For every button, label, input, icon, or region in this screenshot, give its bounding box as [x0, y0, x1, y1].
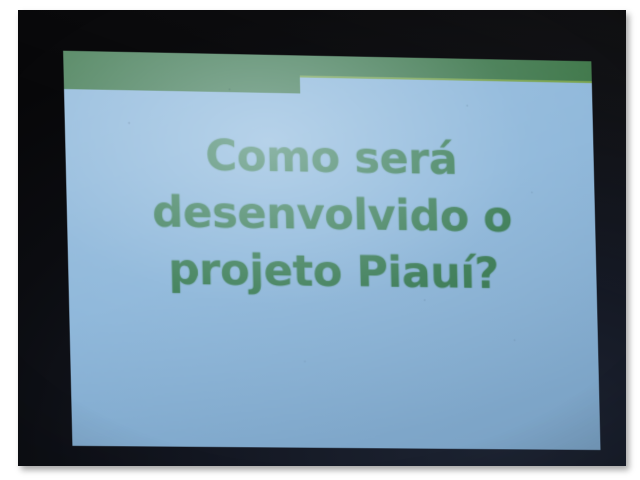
slide-title-line-2: desenvolvido o	[66, 183, 596, 248]
photograph-frame: Como será desenvolvido o projeto Piauí?	[0, 0, 640, 480]
slide-title: Como será desenvolvido o projeto Piauí?	[65, 125, 597, 303]
presentation-slide: Como será desenvolvido o projeto Piauí?	[63, 51, 600, 450]
photograph: Como será desenvolvido o projeto Piauí?	[18, 10, 626, 466]
slide-title-line-1: Como será	[65, 125, 595, 191]
slide-accent-band-dark-step	[63, 51, 300, 94]
projection-screen: Como será desenvolvido o projeto Piauí?	[63, 51, 600, 450]
slide-title-line-3: projeto Piauí?	[68, 240, 597, 304]
